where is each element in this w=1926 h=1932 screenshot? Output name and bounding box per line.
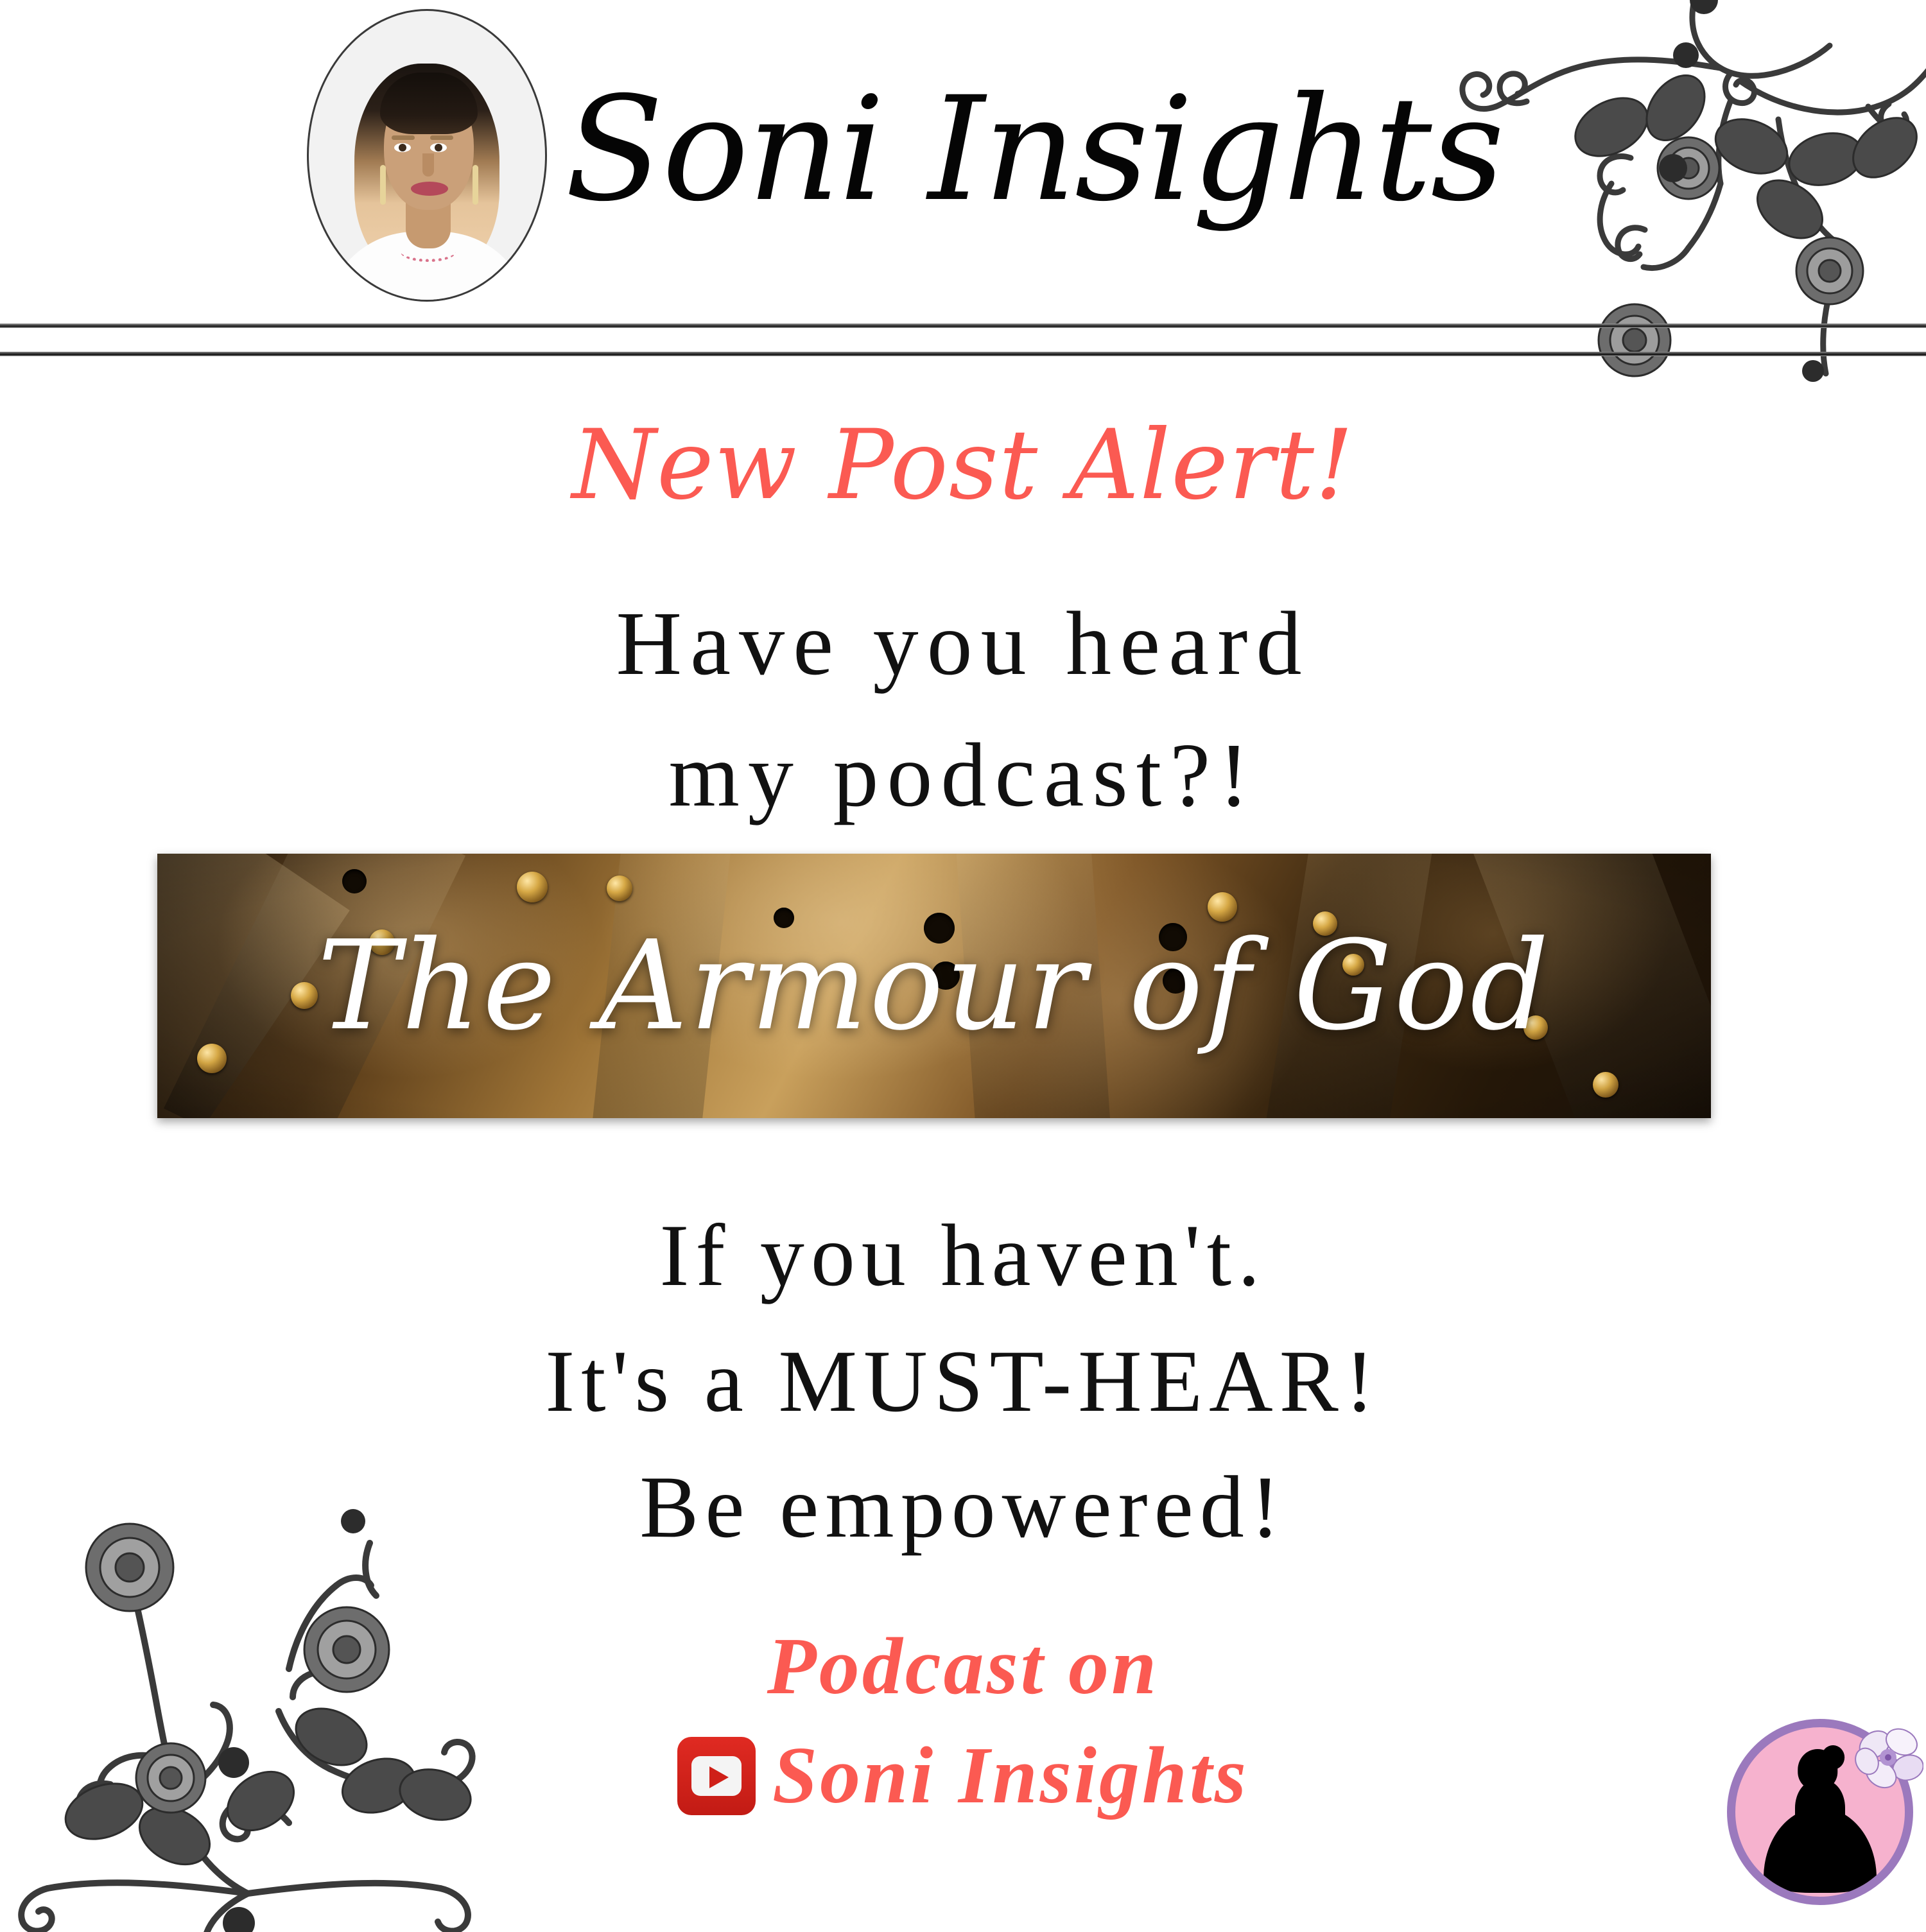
subcopy-line-2: It's a MUST-HEAR!: [0, 1318, 1926, 1444]
avatar-pupil-left: [399, 144, 406, 151]
header-divider-bottom: [0, 352, 1926, 356]
brand-badge[interactable]: [1727, 1719, 1913, 1905]
cta-line-1: Podcast on: [0, 1612, 1926, 1721]
youtube-icon[interactable]: [677, 1737, 756, 1815]
brand-name: Soni Insights: [565, 76, 1464, 223]
avatar-earring-right: [473, 165, 478, 205]
youtube-play-triangle: [709, 1766, 729, 1788]
headline-line-1: Have you heard: [0, 578, 1926, 709]
post-canvas: Soni Insights: [0, 0, 1926, 1926]
cta: Podcast on Soni Insights: [0, 1612, 1926, 1831]
avatar: [307, 9, 547, 302]
avatar-portrait: [347, 39, 507, 296]
avatar-fringe: [380, 73, 478, 134]
flower-icon: [1853, 1725, 1923, 1792]
subcopy: If you haven't. It's a MUST-HEAR! Be emp…: [0, 1193, 1926, 1570]
avatar-eyebrow-right: [430, 135, 453, 140]
avatar-eyebrow-left: [392, 135, 415, 140]
avatar-pupil-right: [435, 144, 442, 151]
subcopy-line-3: Be empowered!: [0, 1444, 1926, 1570]
avatar-necklace: [401, 242, 456, 262]
cta-line-2: Soni Insights: [772, 1721, 1249, 1831]
new-post-alert: New Post Alert!: [0, 411, 1926, 520]
lady-silhouette-arm: [1785, 1809, 1829, 1866]
header-divider-top: [0, 323, 1926, 328]
avatar-lips: [411, 182, 448, 196]
header: Soni Insights: [0, 0, 1926, 324]
headline-line-2: my podcast?!: [0, 709, 1926, 841]
subcopy-line-1: If you haven't.: [0, 1193, 1926, 1318]
podcast-banner[interactable]: The Armour of God: [157, 854, 1711, 1118]
cta-channel-row[interactable]: Soni Insights: [0, 1721, 1926, 1831]
lady-silhouette-hair: [1821, 1745, 1844, 1770]
banner-title: The Armour of God: [157, 854, 1711, 1118]
headline: Have you heard my podcast?!: [0, 578, 1926, 841]
avatar-earring-left: [380, 165, 386, 205]
avatar-nose: [422, 153, 434, 177]
